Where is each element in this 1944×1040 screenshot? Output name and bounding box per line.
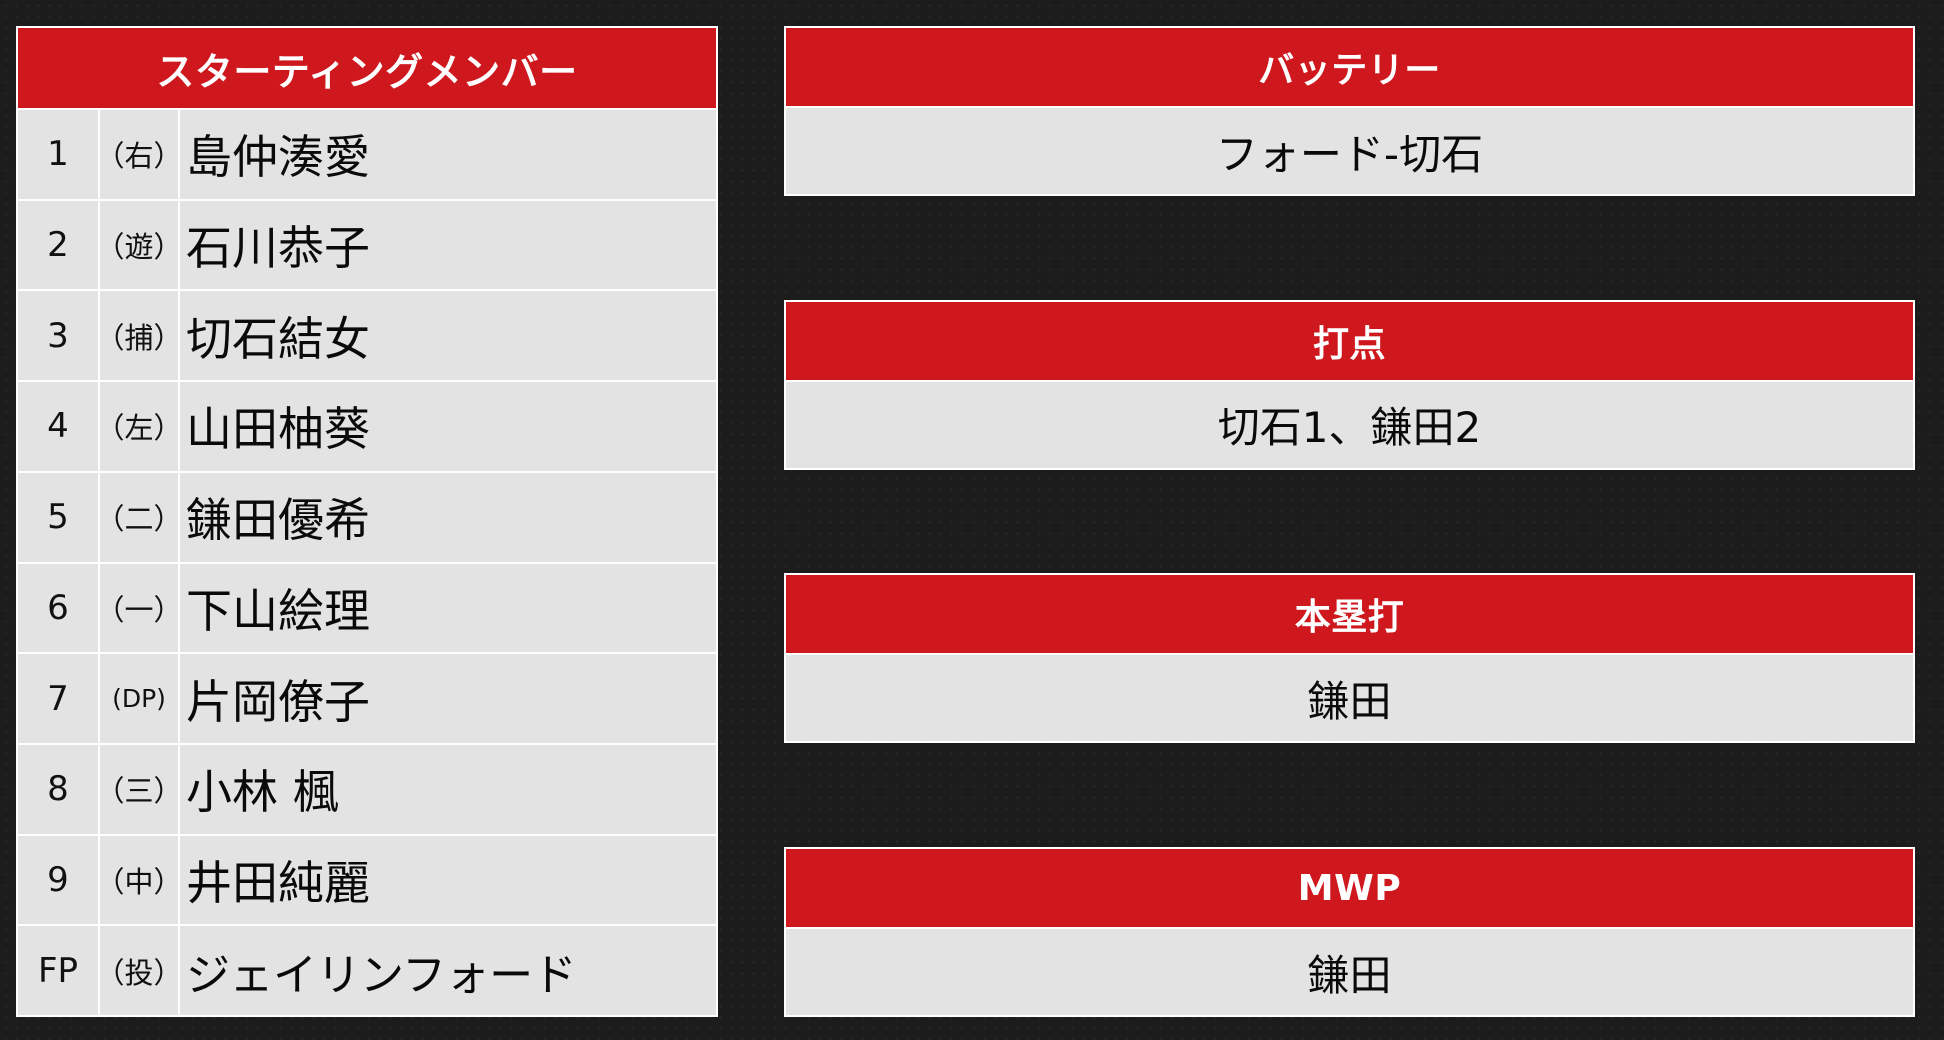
fielding-position: （捕） xyxy=(98,291,178,380)
starting-lineup-title: スターティングメンバー xyxy=(18,28,716,108)
player-name: 下山絵理 xyxy=(178,564,716,653)
player-name: 片岡僚子 xyxy=(178,654,716,743)
lineup-row: 7 (DP) 片岡僚子 xyxy=(18,652,716,743)
home-run-value: 鎌田 xyxy=(786,653,1913,741)
lineup-row: 5 （二） 鎌田優希 xyxy=(18,471,716,562)
batting-order-number: 2 xyxy=(18,201,98,290)
block-spacer xyxy=(784,470,1915,574)
fielding-position: （二） xyxy=(98,473,178,562)
player-name: 鎌田優希 xyxy=(178,473,716,562)
mwp-block: MWP 鎌田 xyxy=(784,847,1915,1017)
starting-lineup-rows: 1 （右） 島仲湊愛 2 （遊） 石川恭子 3 （捕） 切石結女 4 （左） 山… xyxy=(18,108,716,1015)
lineup-row: 3 （捕） 切石結女 xyxy=(18,289,716,380)
game-summary-column: バッテリー フォード-切石 打点 切石1、鎌田2 本塁打 鎌田 MWP 鎌田 xyxy=(784,26,1915,1017)
player-name: 小林 楓 xyxy=(178,745,716,834)
batting-order-number: 7 xyxy=(18,654,98,743)
lineup-row: 1 （右） 島仲湊愛 xyxy=(18,108,716,199)
lineup-row: 6 （一） 下山絵理 xyxy=(18,562,716,653)
player-name: 山田柚葵 xyxy=(178,382,716,471)
fielding-position: （左） xyxy=(98,382,178,471)
fielding-position: （右） xyxy=(98,110,178,199)
lineup-row: 4 （左） 山田柚葵 xyxy=(18,380,716,471)
rbi-value: 切石1、鎌田2 xyxy=(786,380,1913,468)
rbi-title: 打点 xyxy=(786,302,1913,380)
batting-order-number: 3 xyxy=(18,291,98,380)
player-name: 井田純麗 xyxy=(178,836,716,925)
batting-order-number: 6 xyxy=(18,564,98,653)
batting-order-number: 4 xyxy=(18,382,98,471)
mwp-title: MWP xyxy=(786,849,1913,927)
player-name: ジェイリンフォード xyxy=(178,926,716,1015)
player-name: 切石結女 xyxy=(178,291,716,380)
batting-order-number: 8 xyxy=(18,745,98,834)
lineup-row: 9 （中） 井田純麗 xyxy=(18,834,716,925)
block-spacer xyxy=(784,743,1915,847)
battery-block: バッテリー フォード-切石 xyxy=(784,26,1915,196)
batting-order-number: FP xyxy=(18,926,98,1015)
fielding-position: （投） xyxy=(98,926,178,1015)
lineup-row: 8 （三） 小林 楓 xyxy=(18,743,716,834)
rbi-block: 打点 切石1、鎌田2 xyxy=(784,300,1915,470)
lineup-row: 2 （遊） 石川恭子 xyxy=(18,199,716,290)
fielding-position: (DP) xyxy=(98,654,178,743)
batting-order-number: 1 xyxy=(18,110,98,199)
battery-title: バッテリー xyxy=(786,28,1913,106)
home-run-block: 本塁打 鎌田 xyxy=(784,573,1915,743)
player-name: 島仲湊愛 xyxy=(178,110,716,199)
scoreboard-graphic: スターティングメンバー 1 （右） 島仲湊愛 2 （遊） 石川恭子 3 （捕） … xyxy=(0,0,1944,1040)
fielding-position: （遊） xyxy=(98,201,178,290)
fielding-position: （三） xyxy=(98,745,178,834)
battery-value: フォード-切石 xyxy=(786,106,1913,194)
block-spacer xyxy=(784,196,1915,300)
mwp-value: 鎌田 xyxy=(786,927,1913,1015)
batting-order-number: 5 xyxy=(18,473,98,562)
batting-order-number: 9 xyxy=(18,836,98,925)
fielding-position: （中） xyxy=(98,836,178,925)
home-run-title: 本塁打 xyxy=(786,575,1913,653)
fielding-position: （一） xyxy=(98,564,178,653)
starting-lineup-panel: スターティングメンバー 1 （右） 島仲湊愛 2 （遊） 石川恭子 3 （捕） … xyxy=(16,26,718,1017)
lineup-row: FP （投） ジェイリンフォード xyxy=(18,924,716,1015)
player-name: 石川恭子 xyxy=(178,201,716,290)
